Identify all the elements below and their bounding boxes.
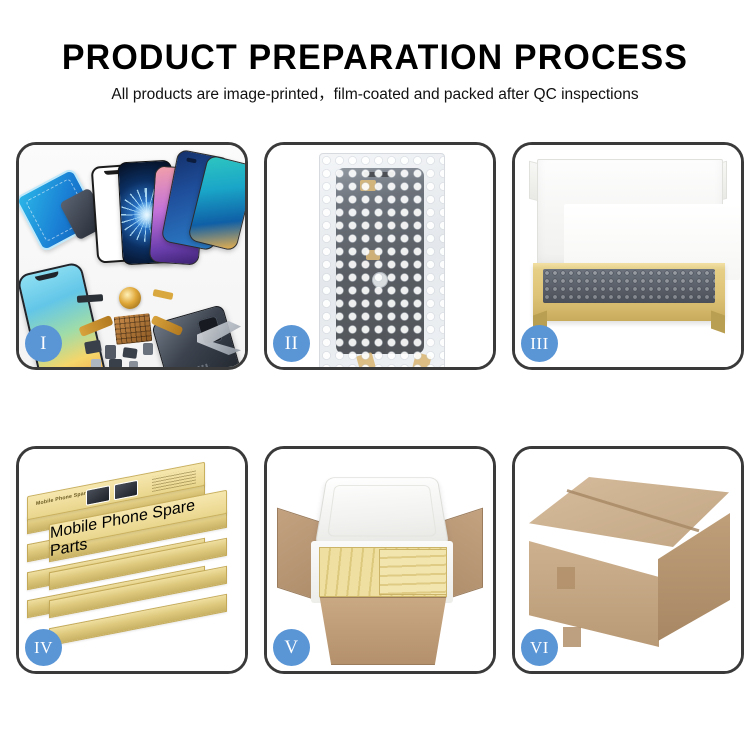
process-step-panel-3: III (512, 142, 744, 370)
spare-part (91, 359, 101, 367)
spare-part (129, 361, 138, 367)
product-preparation-infographic: PRODUCT PREPARATION PROCESS All products… (0, 0, 750, 750)
bubble-texture (320, 154, 444, 367)
box-spec-text-block (152, 468, 196, 492)
box-window-right (114, 480, 138, 501)
box-window-left (86, 485, 110, 506)
phone-back-housing (151, 304, 241, 367)
step-badge-4: IV (25, 629, 62, 666)
kraft-tray-base (533, 263, 725, 321)
tray-corner-right (711, 310, 725, 333)
page-title: PRODUCT PREPARATION PROCESS (11, 38, 739, 78)
carton-tape-upper (557, 567, 575, 589)
logic-board-chip (114, 313, 153, 345)
process-step-panel-2: II (264, 142, 496, 370)
bubble-wrap-pouch (319, 153, 445, 367)
gold-contact-strip (152, 289, 173, 300)
page-subtitle: All products are image-printed，film-coat… (0, 85, 750, 105)
process-steps-grid: I (16, 142, 736, 674)
process-step-panel-1: I (16, 142, 248, 370)
step-badge-6: VI (521, 629, 558, 666)
header: PRODUCT PREPARATION PROCESS All products… (0, 38, 750, 105)
foam-lid-open (314, 477, 449, 547)
spare-part (143, 343, 153, 355)
carton-tape-lower (563, 627, 581, 647)
step-badge-1: I (25, 325, 62, 362)
process-step-panel-4: Mobile Phone Spare Parts Mobile Phone Sp… (16, 446, 248, 674)
step-badge-2: II (273, 325, 310, 362)
process-step-panel-5: V (264, 446, 496, 674)
spare-part (122, 347, 137, 359)
step-badge-3: III (521, 325, 558, 362)
carton-front-wall (311, 597, 455, 665)
speaker-coil-part (119, 287, 141, 309)
process-step-panel-6: VI (512, 446, 744, 674)
box-lid-panel (537, 159, 723, 269)
earpiece-mesh-part (77, 294, 103, 303)
spare-part (109, 359, 122, 367)
yellow-boxes-row-right (379, 549, 447, 595)
grey-bubble-padding (543, 269, 715, 303)
step-badge-5: V (273, 629, 310, 666)
spare-part (105, 345, 116, 359)
